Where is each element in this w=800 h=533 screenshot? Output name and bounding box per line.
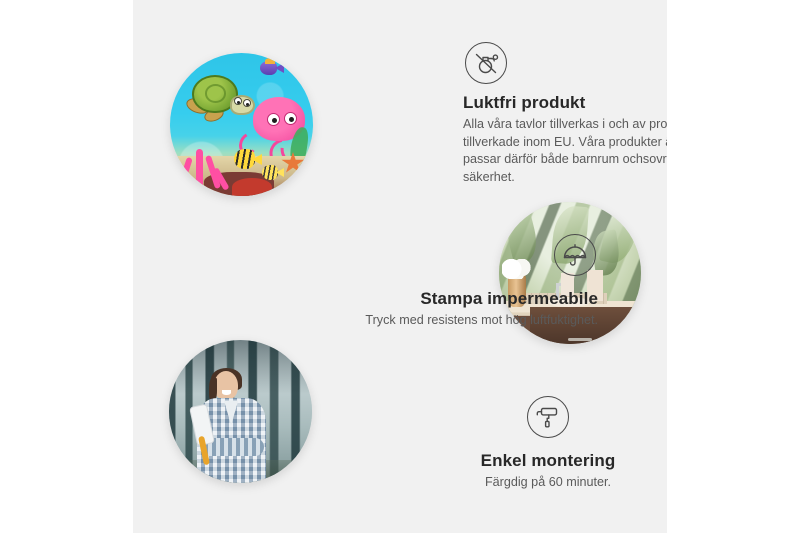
feature-image-forest (169, 340, 312, 483)
sea-turtle (184, 75, 246, 121)
woman-decorator (192, 371, 272, 483)
feature-body: Färgdig på 60 minuter. (433, 474, 663, 492)
feature-odourless: Luktfri produkt Alla våra tavlor tillver… (463, 42, 667, 186)
pink-coral (176, 149, 228, 193)
feature-body: Tryck med resistens mot hög luftfuktighe… (313, 312, 598, 330)
paint-roller-icon (527, 396, 569, 438)
feature-title: Stampa impermeabile (313, 289, 598, 309)
purple-fish (260, 61, 282, 75)
feature-title: Enkel montering (433, 451, 663, 471)
umbrella-icon (554, 234, 596, 276)
face (214, 371, 238, 400)
no-fragrance-icon (465, 42, 507, 84)
feature-title: Luktfri produkt (463, 93, 667, 113)
feature-image-underwater (170, 53, 313, 196)
yellow-striped-fish (234, 149, 260, 169)
feature-easy-assembly: Enkel montering Färgdig på 60 minuter. (433, 396, 663, 492)
feature-panel: Luktfri produkt Alla våra tavlor tillver… (133, 0, 667, 533)
smile (222, 390, 231, 394)
yellow-striped-fish-small (262, 165, 282, 180)
product-feature-banner: Luktfri produkt Alla våra tavlor tillver… (0, 0, 800, 533)
feature-body: Alla våra tavlor tillverkas i och av pro… (463, 116, 667, 186)
feature-waterproof: Stampa impermeabile Tryck med resistens … (313, 234, 598, 330)
sea-rock-small (232, 178, 272, 196)
